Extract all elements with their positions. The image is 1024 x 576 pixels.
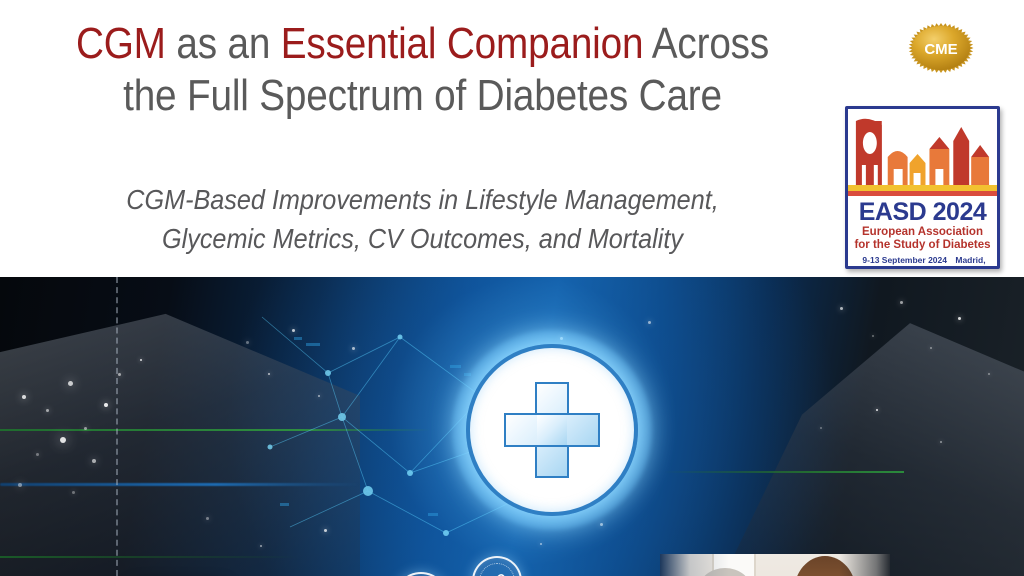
easd-title: EASD 2024	[848, 199, 997, 226]
sparkle	[18, 483, 22, 487]
sparkle	[900, 301, 903, 304]
consultation-photo	[660, 554, 890, 576]
sparkle	[60, 437, 66, 443]
sparkle	[104, 403, 108, 407]
sparkle	[118, 373, 121, 376]
cme-badge-label: CME	[924, 41, 957, 58]
photo-edge-fade	[660, 554, 890, 576]
sparkle	[958, 317, 961, 320]
easd-subtitle-line-2: for the Study of Diabetes	[848, 239, 997, 252]
page-subtitle: CGM-Based Improvements in Lifestyle Mana…	[0, 180, 845, 258]
sparkle	[140, 359, 142, 361]
slide-root: CGM as an Essential Companion Across the…	[0, 0, 1024, 576]
easd-subtitle-line-1: European Association	[848, 226, 997, 239]
sparkle	[206, 517, 209, 520]
sparkle	[648, 321, 651, 324]
sparkle	[46, 409, 49, 412]
sparkle	[988, 373, 990, 375]
sparkle	[68, 381, 73, 386]
sparkle	[940, 441, 942, 443]
sparkle	[246, 341, 249, 344]
sparkle	[72, 491, 75, 494]
sparkle	[840, 307, 843, 310]
cme-badge: CME	[908, 22, 974, 74]
sparkle	[876, 409, 878, 411]
sparkle	[84, 427, 87, 430]
sparkle	[820, 427, 822, 429]
medical-cross-icon	[452, 330, 652, 530]
title-line-1: CGM as an Essential Companion Across	[51, 18, 795, 70]
easd-date-location: 9-13 September 2024 Madrid, Spain	[848, 254, 997, 269]
title-segment-asan: as an	[166, 19, 281, 68]
title-line-2: the Full Spectrum of Diabetes Care	[51, 70, 795, 122]
sparkle	[36, 453, 39, 456]
title-segment-across: Across	[643, 19, 769, 68]
page-title: CGM as an Essential Companion Across the…	[0, 18, 845, 122]
sparkle	[930, 347, 932, 349]
hero-image: 9:41 ▲ FreeStyleLibre 3 GLUCOSE IN R	[0, 277, 1024, 576]
dashed-divider	[116, 277, 118, 576]
sparkle	[872, 335, 874, 337]
easd-logo: EASD 2024 European Association for the S…	[845, 106, 1000, 269]
easd-date: 9-13 September 2024	[862, 255, 947, 265]
title-segment-cgm: CGM	[76, 19, 166, 68]
subtitle-line-2: Glycemic Metrics, CV Outcomes, and Morta…	[42, 219, 803, 258]
subtitle-line-1: CGM-Based Improvements in Lifestyle Mana…	[42, 180, 803, 219]
title-header: CGM as an Essential Companion Across the…	[0, 0, 1024, 277]
sparkle	[22, 395, 26, 399]
madrid-skyline-icon	[848, 113, 997, 199]
accent-line-green-right	[664, 471, 904, 473]
sparkle	[92, 459, 96, 463]
title-segment-essential: Essential Companion	[281, 19, 644, 68]
